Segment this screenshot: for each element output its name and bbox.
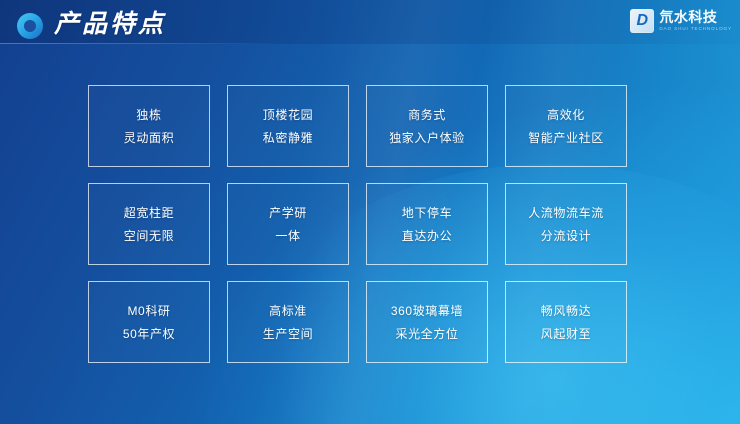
feature-card-line1: 人流物流车流: [528, 206, 604, 220]
feature-card-grid: 独栋 灵动面积 顶楼花园 私密静雅 商务式 独家入户体验 高效化 智能产业社区 …: [88, 85, 627, 363]
feature-card-line2: 生产空间: [263, 327, 313, 341]
feature-card-line2: 一体: [275, 229, 300, 243]
logo-name-en: DAO SHUI TECHNOLOGY: [659, 24, 732, 32]
feature-card-line2: 独家入户体验: [389, 131, 465, 145]
feature-card[interactable]: 商务式 独家入户体验: [366, 85, 488, 167]
logo-text: 氘水科技 DAO SHUI TECHNOLOGY: [659, 10, 732, 33]
feature-card-line2: 私密静雅: [263, 131, 313, 145]
feature-card-line1: 高效化: [547, 108, 585, 122]
header: 产品特点 D 氘水科技 DAO SHUI TECHNOLOGY: [0, 0, 740, 48]
feature-card-line1: 商务式: [408, 108, 446, 122]
feature-card[interactable]: 超宽柱距 空间无限: [88, 183, 210, 265]
feature-card[interactable]: 高标准 生产空间: [227, 281, 349, 363]
logo-badge-icon: D: [630, 9, 654, 33]
feature-card-line1: 顶楼花园: [263, 108, 313, 122]
feature-card-line1: 360玻璃幕墙: [391, 304, 463, 318]
feature-card-line1: 独栋: [136, 108, 161, 122]
feature-card-line2: 智能产业社区: [528, 131, 604, 145]
feature-card-line1: 地下停车: [402, 206, 452, 220]
feature-card[interactable]: M0科研 50年产权: [88, 281, 210, 363]
feature-card[interactable]: 顶楼花园 私密静雅: [227, 85, 349, 167]
feature-card[interactable]: 人流物流车流 分流设计: [505, 183, 627, 265]
slide-canvas: 产品特点 D 氘水科技 DAO SHUI TECHNOLOGY 独栋 灵动面积 …: [0, 0, 740, 424]
feature-card[interactable]: 高效化 智能产业社区: [505, 85, 627, 167]
feature-card-line2: 风起财至: [541, 327, 591, 341]
feature-card-line1: 超宽柱距: [124, 206, 174, 220]
feature-card-line2: 直达办公: [402, 229, 452, 243]
feature-card-line2: 50年产权: [123, 327, 175, 341]
feature-card-line2: 采光全方位: [395, 327, 458, 341]
feature-card-line2: 分流设计: [541, 229, 591, 243]
ring-logo-icon: [17, 13, 43, 39]
feature-card-line2: 空间无限: [124, 229, 174, 243]
feature-card[interactable]: 畅风畅达 风起财至: [505, 281, 627, 363]
feature-card[interactable]: 独栋 灵动面积: [88, 85, 210, 167]
page-title: 产品特点: [54, 9, 166, 39]
feature-card-line2: 灵动面积: [124, 131, 174, 145]
ring-inner-shape: [24, 20, 36, 32]
feature-card-line1: 高标准: [269, 304, 307, 318]
feature-card-line1: 产学研: [269, 206, 307, 220]
company-logo: D 氘水科技 DAO SHUI TECHNOLOGY: [630, 6, 732, 36]
feature-card[interactable]: 地下停车 直达办公: [366, 183, 488, 265]
logo-name-cn: 氘水科技: [659, 10, 732, 25]
feature-card-line1: 畅风畅达: [541, 304, 591, 318]
feature-card-line1: M0科研: [127, 304, 170, 318]
feature-card[interactable]: 360玻璃幕墙 采光全方位: [366, 281, 488, 363]
feature-card[interactable]: 产学研 一体: [227, 183, 349, 265]
